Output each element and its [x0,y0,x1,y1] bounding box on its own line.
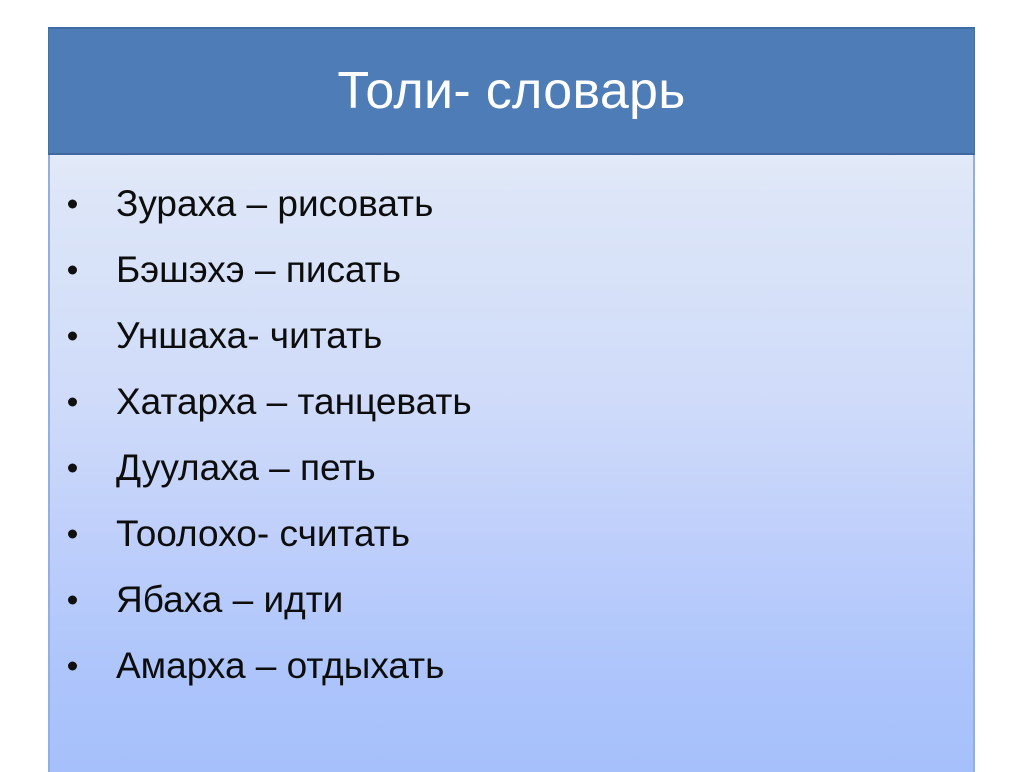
bullet-dot-icon [68,332,77,341]
list-item-label: Зураха – рисовать [116,185,433,224]
list-item: Тоолохо- считать [66,501,963,567]
slide-title-band: Толи- словарь [48,27,975,155]
list-item-label: Бэшэхэ – писать [116,251,401,290]
bullet-dot-icon [68,596,77,605]
list-item: Уншаха- читать [66,303,963,369]
slide-root: Толи- словарь Зураха – рисовать Бэшэхэ –… [0,0,1024,767]
list-item: Хатарха – танцевать [66,369,963,435]
list-item-label: Ябаха – идти [116,581,343,620]
bullet-dot-icon [68,530,77,539]
bullet-dot-icon [68,398,77,407]
vocabulary-bullet-list: Зураха – рисовать Бэшэхэ – писать Уншаха… [66,171,963,699]
bullet-dot-icon [68,266,77,275]
list-item: Ябаха – идти [66,567,963,633]
list-item-label: Хатарха – танцевать [116,383,472,422]
list-item-label: Уншаха- читать [116,317,382,356]
bullet-dot-icon [68,200,77,209]
presentation-slide: Толи- словарь Зураха – рисовать Бэшэхэ –… [48,27,975,772]
slide-body-panel: Зураха – рисовать Бэшэхэ – писать Уншаха… [48,155,975,772]
list-item: Бэшэхэ – писать [66,237,963,303]
slide-title: Толи- словарь [337,65,685,117]
list-item: Амарха – отдыхать [66,633,963,699]
list-item: Дуулаха – петь [66,435,963,501]
list-item: Зураха – рисовать [66,171,963,237]
list-item-label: Тоолохо- считать [116,515,410,554]
list-item-label: Дуулаха – петь [116,449,376,488]
list-item-label: Амарха – отдыхать [116,647,444,686]
bullet-dot-icon [68,662,77,671]
bullet-dot-icon [68,464,77,473]
